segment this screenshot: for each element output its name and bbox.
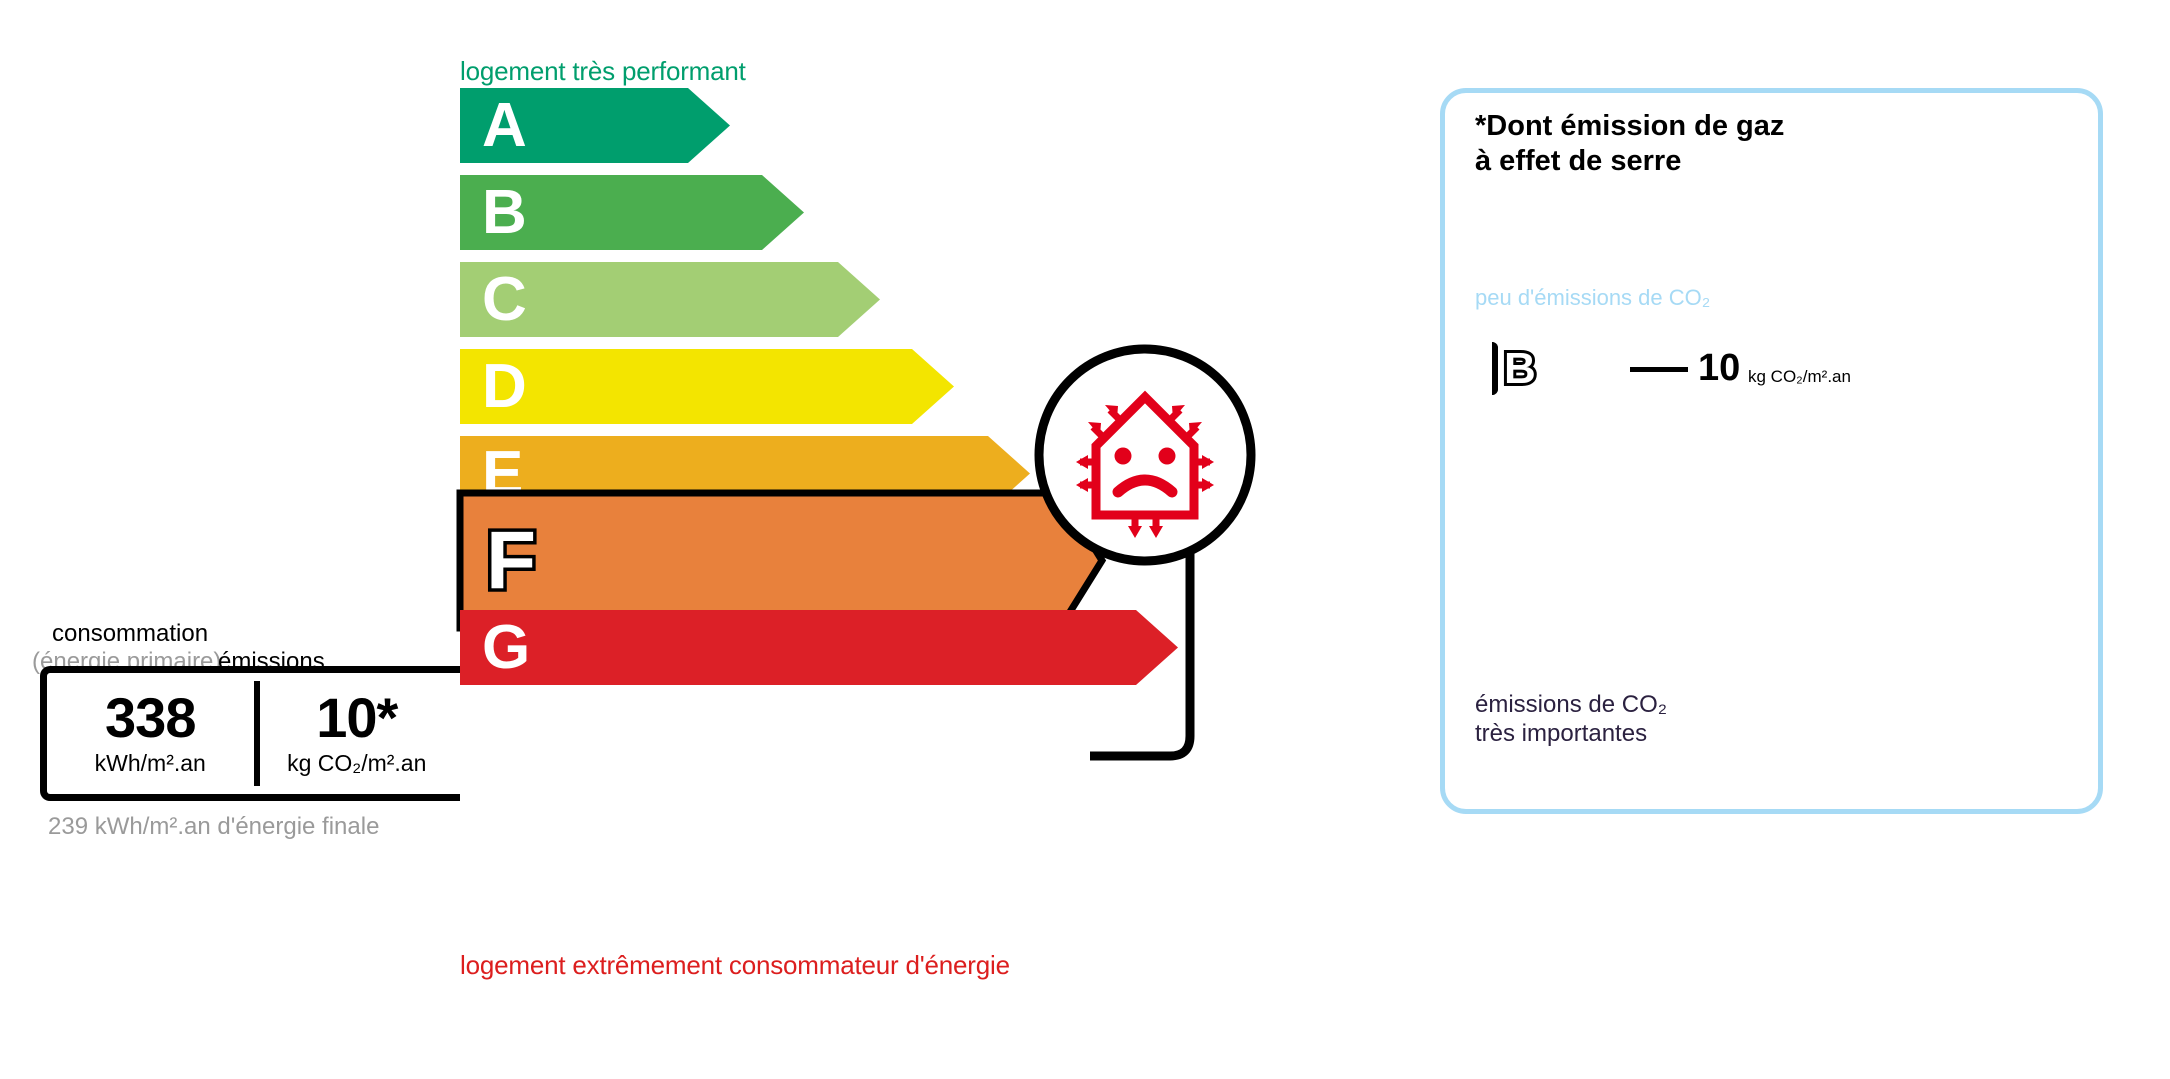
ghg-bar-letter-f: F (1501, 499, 1518, 526)
consumption-cell: 338 kWh/m².an (47, 673, 254, 794)
consumption-unit: kWh/m².an (95, 750, 206, 777)
scale-bottom-caption: logement extrêmement consommateur d'éner… (460, 950, 1010, 981)
energy-band-d: D (460, 349, 954, 424)
scale-top-caption: logement très performant (460, 56, 746, 87)
ghg-bar-c: C (1492, 389, 1654, 420)
emissions-value: 10* (316, 690, 397, 746)
emissions-cell: 10* kg CO₂/m².an (254, 673, 461, 794)
ghg-bar-letter-e: E (1501, 463, 1519, 490)
energy-band-c: C (460, 262, 880, 337)
value-readout-box: 338 kWh/m².an 10* kg CO₂/m².an (40, 666, 460, 801)
ghg-emissions-panel: *Dont émission de gaz à effet de serre p… (1440, 88, 2103, 814)
final-energy-note: 239 kWh/m².an d'énergie finale (48, 812, 379, 842)
sad-house-heat-loss-icon (1030, 340, 1260, 570)
energy-band-a: A (460, 88, 730, 163)
ghg-panel-title: *Dont émission de gaz à effet de serre (1475, 109, 1784, 180)
energy-band-f: F (460, 493, 1102, 628)
ghg-bar-letter-d: D (1501, 427, 1521, 454)
ghg-bar-e: E (1492, 461, 1724, 492)
ghg-bar-fill-b (1492, 342, 1498, 395)
consumption-value: 338 (105, 690, 195, 746)
ghg-callout-value: 10 (1698, 349, 1740, 387)
ghg-bar-letter-b: B (1504, 347, 1536, 391)
ghg-bottom-caption: émissions de CO₂ très importantes (1475, 690, 1667, 749)
ghg-top-caption: peu d'émissions de CO₂ (1475, 285, 1710, 311)
energy-band-b: B (460, 175, 804, 250)
emissions-unit: kg CO₂/m².an (287, 750, 426, 777)
ghg-callout-unit: kg CO₂/m².an (1748, 368, 1851, 385)
ghg-bar-b: B (1492, 342, 1620, 395)
heat-loss-badge (1030, 340, 1260, 575)
ghg-bar-d: D (1492, 425, 1688, 456)
ghg-callout-line (1630, 367, 1688, 372)
ghg-bar-g: G (1492, 533, 1782, 564)
ghg-bar-letter-g: G (1501, 535, 1522, 562)
ghg-bar-letter-c: C (1501, 391, 1521, 418)
consumption-header: consommation (52, 620, 208, 648)
ghg-bar-f: F (1492, 497, 1756, 528)
